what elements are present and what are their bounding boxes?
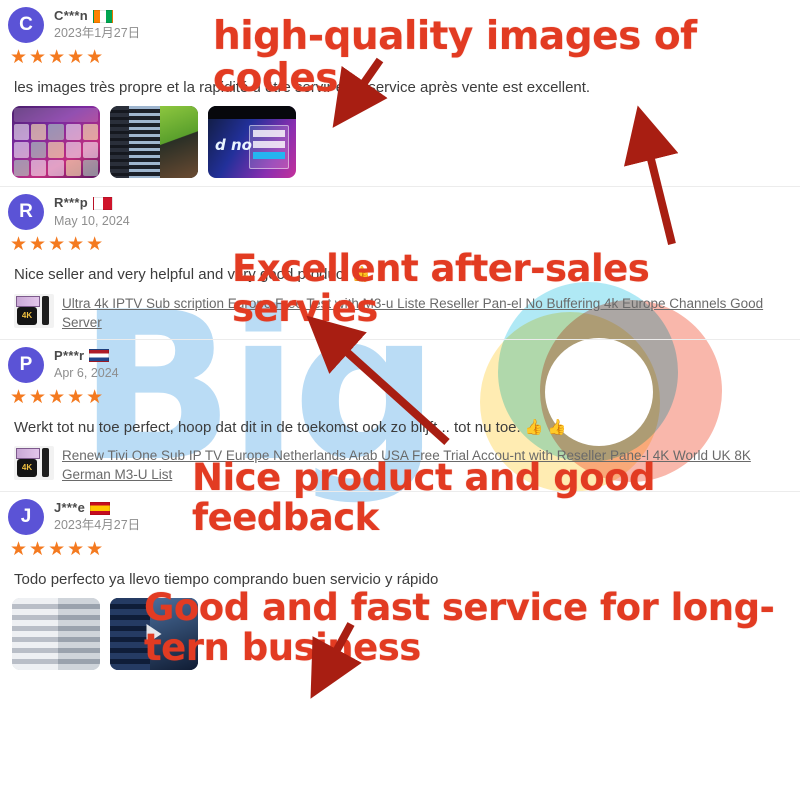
reviewer-name: R***p <box>54 195 88 211</box>
review-name-row: J***e <box>54 500 140 516</box>
review-meta: C***n 2023年1月27日 <box>54 8 140 42</box>
country-flag-icon <box>93 10 113 23</box>
review-photo-thumbnail[interactable] <box>12 598 100 670</box>
country-flag-icon <box>93 197 113 210</box>
review-photos: d no <box>0 102 800 186</box>
reviewer-name: C***n <box>54 8 88 24</box>
product-link[interactable]: Ultra 4k IPTV Sub scription Europe Free … <box>62 294 794 333</box>
review-meta: P***r Apr 6, 2024 <box>54 348 119 382</box>
product-link[interactable]: Renew Tivi One Sub IP TV Europe Netherla… <box>62 446 794 485</box>
star-rating: ★★★★★ <box>0 384 800 412</box>
review-date: Apr 6, 2024 <box>54 366 119 382</box>
review-text: les images très propre et la rapidité d … <box>0 72 800 102</box>
review-item: P P***r Apr 6, 2024 ★★★★★ Werkt tot nu t… <box>0 340 800 491</box>
review-photo-thumbnail[interactable] <box>110 106 198 178</box>
star-rating: ★★★★★ <box>0 231 800 259</box>
country-flag-icon <box>89 349 109 362</box>
country-flag-icon <box>90 502 110 515</box>
product-thumbnail-label: 4K <box>17 459 37 477</box>
review-item: C C***n 2023年1月27日 ★★★★★ les images très… <box>0 0 800 186</box>
avatar: J <box>8 499 44 535</box>
review-header: P P***r Apr 6, 2024 <box>0 340 800 384</box>
review-list: C C***n 2023年1月27日 ★★★★★ les images très… <box>0 0 800 678</box>
review-meta: R***p May 10, 2024 <box>54 195 130 229</box>
review-date: 2023年4月27日 <box>54 518 140 534</box>
product-thumbnail-label: 4K <box>17 307 37 325</box>
reviewer-name: P***r <box>54 348 84 364</box>
avatar: C <box>8 7 44 43</box>
review-name-row: C***n <box>54 8 140 24</box>
review-item: J J***e 2023年4月27日 ★★★★★ Todo perfecto y… <box>0 492 800 678</box>
review-date: May 10, 2024 <box>54 214 130 230</box>
review-name-row: R***p <box>54 195 130 211</box>
review-photos <box>0 594 800 678</box>
product-link-row[interactable]: 4K Ultra 4k IPTV Sub scription Europe Fr… <box>0 290 800 339</box>
review-date: 2023年1月27日 <box>54 26 140 42</box>
review-meta: J***e 2023年4月27日 <box>54 500 140 534</box>
product-thumbnail[interactable]: 4K <box>14 294 54 328</box>
product-thumbnail[interactable]: 4K <box>14 446 54 480</box>
review-text: Nice seller and very helpful and very go… <box>0 259 800 289</box>
review-header: R R***p May 10, 2024 <box>0 187 800 231</box>
reviewer-name: J***e <box>54 500 85 516</box>
review-photo-thumbnail[interactable] <box>12 106 100 178</box>
star-rating: ★★★★★ <box>0 44 800 72</box>
review-text: Werkt tot nu toe perfect, hoop dat dit i… <box>0 412 800 442</box>
review-photo-thumbnail[interactable]: d no <box>208 106 296 178</box>
review-header: C C***n 2023年1月27日 <box>0 0 800 44</box>
review-name-row: P***r <box>54 348 119 364</box>
product-link-row[interactable]: 4K Renew Tivi One Sub IP TV Europe Nethe… <box>0 442 800 491</box>
review-video-thumbnail[interactable] <box>110 598 198 670</box>
review-text: Todo perfecto ya llevo tiempo comprando … <box>0 564 800 594</box>
avatar: P <box>8 347 44 383</box>
avatar: R <box>8 194 44 230</box>
star-rating: ★★★★★ <box>0 536 800 564</box>
review-item: R R***p May 10, 2024 ★★★★★ Nice seller a… <box>0 187 800 338</box>
review-header: J J***e 2023年4月27日 <box>0 492 800 536</box>
